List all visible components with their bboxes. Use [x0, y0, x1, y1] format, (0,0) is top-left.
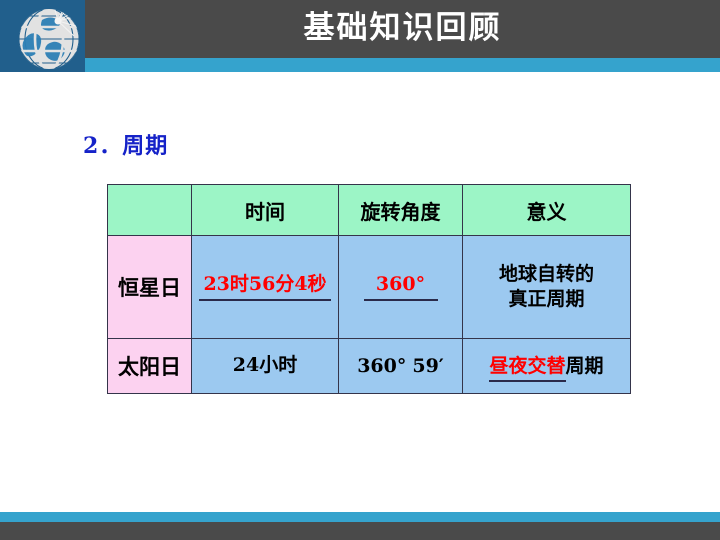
row-label-sidereal-day: 恒星日: [108, 236, 192, 339]
slide-header: 基础知识回顾: [0, 0, 720, 72]
cell-solar-meaning: 昼夜交替周期: [463, 339, 631, 394]
cell-sidereal-angle: 360°: [339, 236, 463, 339]
header-accent-bar: [0, 58, 720, 72]
solar-time-value: 24小时: [192, 354, 338, 378]
cell-solar-angle: 360°59′: [339, 339, 463, 394]
solar-meaning-highlight: 昼夜交替: [489, 351, 565, 382]
sidereal-time-value: 23时56分4秒: [199, 273, 331, 301]
cell-sidereal-meaning: 地球自转的 真正周期: [463, 236, 631, 339]
logo-container: [0, 0, 85, 72]
page-title: 基础知识回顾: [85, 0, 720, 58]
solar-meaning-rest: 周期: [566, 355, 604, 377]
cell-sidereal-time: 23时56分4秒: [192, 236, 339, 339]
period-comparison-table: 时间 旋转角度 意义 恒星日 23时56分4秒 360° 地球自转的 真正周期 …: [107, 184, 631, 394]
section-heading: 2．周期: [83, 128, 168, 160]
cell-solar-time: 24小时: [192, 339, 339, 394]
table-header-row: 时间 旋转角度 意义: [108, 185, 631, 236]
column-header-meaning: 意义: [463, 185, 631, 236]
solar-angle-minutes: 59′: [412, 355, 443, 377]
table-row: 恒星日 23时56分4秒 360° 地球自转的 真正周期: [108, 236, 631, 339]
row-label-solar-day: 太阳日: [108, 339, 192, 394]
table-row: 太阳日 24小时 360°59′ 昼夜交替周期: [108, 339, 631, 394]
sidereal-meaning-line2: 真正周期: [463, 287, 630, 312]
footer-dark-bar: [0, 522, 720, 540]
column-header-angle: 旋转角度: [339, 185, 463, 236]
column-header-time: 时间: [192, 185, 339, 236]
footer-accent-bar: [0, 512, 720, 522]
solar-angle-degrees: 360°: [357, 355, 406, 377]
sidereal-meaning-line1: 地球自转的: [463, 262, 630, 287]
sidereal-angle-value: 360°: [364, 273, 438, 302]
column-header-blank: [108, 185, 192, 236]
